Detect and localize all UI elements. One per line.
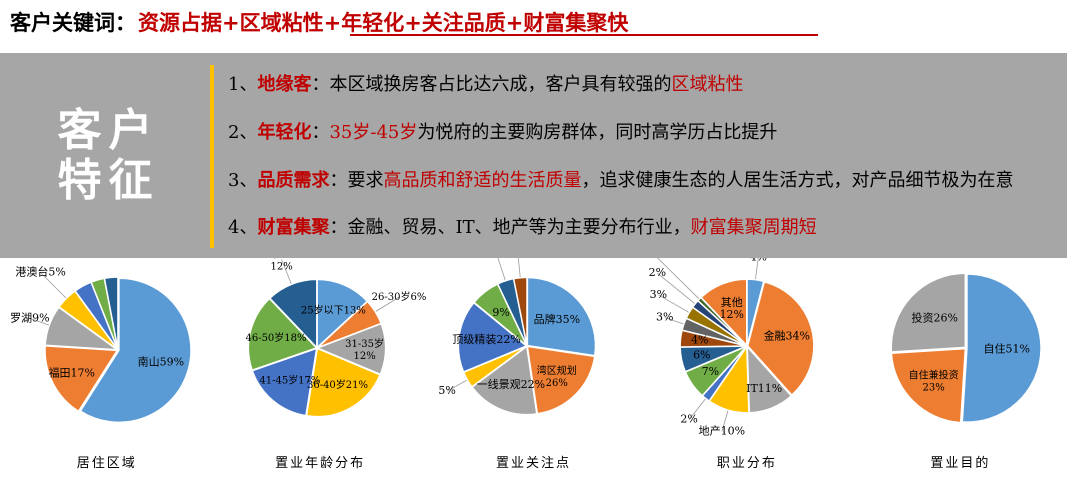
pie-slice-label: 港澳台5% [15, 265, 65, 279]
pie-canvas: 25岁以下13%26-30岁6%31-35岁12%36-40岁21%41-45岁… [213, 258, 426, 443]
pie-slice-label: 地产10% [699, 424, 745, 438]
pie-slice-label: 南山59% [138, 356, 184, 369]
bullet-key: 财富集聚 [257, 217, 329, 238]
bullet-text-highlight: 区域粘性 [671, 74, 743, 95]
pie-slice-label: IT11% [746, 382, 782, 395]
pie-slice-label: 6% [693, 349, 710, 362]
pie-slice-label: 3% [650, 288, 667, 301]
bullet-colon: ： [329, 170, 347, 191]
pie-canvas: 4%金融34%IT11%地产10%2%7%6%4%3%3%2%1%其他12% [640, 258, 853, 443]
pie-chart-svg: 4%金融34%IT11%地产10%2%7%6%4%3%3%2%1%其他12% [640, 258, 854, 443]
keyword-underline [350, 34, 818, 36]
chart-caption: 置业关注点 [427, 452, 640, 471]
pie-slice-label: 46-50岁18% [246, 331, 307, 344]
pie-slice-label: 25岁以下13% [301, 303, 366, 316]
bullet-key: 地缘客 [257, 74, 311, 95]
chart-occupation: 4%金融34%IT11%地产10%2%7%6%4%3%3%2%1%其他12% 职… [640, 258, 853, 477]
pie-label-leader-line [496, 258, 505, 280]
pie-slice-label: 26-30岁6% [372, 290, 427, 303]
keyword-label: 客户关键词： [10, 7, 136, 37]
pie-canvas: 品牌35%湾区规划26%一线景观22%5%顶级精装22%9%5%4% [427, 258, 640, 443]
keyword-value: 资源占据+区域粘性+年轻化+关注品质+财富集聚快 [138, 7, 628, 37]
panel-title-line1: 客户 [51, 106, 160, 155]
bullet-item: 2、年轻化：35岁-45岁为悦府的主要购房群体，同时高学历占比提升 [228, 120, 1057, 146]
pie-slice-label: 41-45岁17% [260, 373, 321, 386]
chart-caption: 置业年龄分布 [213, 452, 426, 471]
pie-chart-svg: 品牌35%湾区规划26%一线景观22%5%顶级精装22%9%5%4% [427, 258, 641, 443]
chart-caption: 职业分布 [640, 452, 853, 471]
bullet-number: 2、 [228, 122, 257, 143]
pie-chart-svg: 自住51%自住兼投资23%投资26% [854, 258, 1067, 443]
keyword-line: 客户关键词： 资源占据+区域粘性+年轻化+关注品质+财富集聚快 [10, 2, 1057, 42]
panel-bullet-list: 1、地缘客：本区域换房客占比达六成，客户具有较强的区域粘性 2、年轻化：35岁-… [214, 53, 1067, 258]
bullet-text-before: 金融、贸易、IT、地产等为主要分布行业， [347, 217, 690, 238]
bullet-number: 1、 [228, 74, 257, 95]
bullet-text-after: 为悦府的主要购房群体，同时高学历占比提升 [417, 122, 777, 143]
pie-slice-label: 50岁以上12% [261, 258, 304, 272]
bullet-number: 4、 [228, 217, 257, 238]
pie-slice-label: 4% [509, 258, 526, 261]
bullet-text-highlight: 财富集聚周期短 [691, 217, 817, 238]
bullet-text-highlight: 高品质和舒适的生活质量 [383, 170, 581, 191]
pie-slice-label: 9% [492, 306, 509, 319]
bullet-item: 1、地缘客：本区域换房客占比达六成，客户具有较强的区域粘性 [228, 72, 1057, 98]
pie-slice-label: 2% [649, 266, 666, 279]
bullet-number: 3、 [228, 170, 257, 191]
pie-label-leader-line [518, 258, 520, 277]
chart-caption: 置业目的 [854, 452, 1067, 471]
pie-slice-label: 4% [750, 258, 767, 264]
pie-slice-label: 4% [691, 334, 708, 347]
bullet-key: 年轻化 [257, 122, 311, 143]
bullet-colon: ： [311, 122, 329, 143]
pie-slice-label: 7% [702, 365, 719, 378]
bullet-text-before: 要求 [347, 170, 383, 191]
customer-characteristics-panel: 客户 特征 1、地缘客：本区域换房客占比达六成，客户具有较强的区域粘性 2、年轻… [0, 53, 1067, 258]
bullet-text-after: ，追求健康生态的人居生活方式，对产品细节极为在意 [581, 170, 1013, 191]
pie-canvas: 南山59%福田17%罗湖9%港澳台5% [0, 258, 213, 443]
bullet-colon: ： [311, 74, 329, 95]
pie-chart-row: 南山59%福田17%罗湖9%港澳台5% 居住区域 25岁以下13%26-30岁6… [0, 258, 1067, 477]
pie-slice-label: 自住51% [983, 341, 1029, 355]
pie-slice-label: 罗湖9% [10, 311, 49, 324]
pie-chart-svg: 南山59%福田17%罗湖9%港澳台5% [0, 258, 214, 443]
chart-caption: 居住区域 [0, 452, 213, 471]
chart-residential-area: 南山59%福田17%罗湖9%港澳台5% 居住区域 [0, 258, 213, 477]
chart-purchase-focus: 品牌35%湾区规划26%一线景观22%5%顶级精装22%9%5%4% 置业关注点 [427, 258, 640, 477]
pie-slice-label: 福田17% [49, 366, 95, 380]
bullet-colon: ： [329, 217, 347, 238]
pie-slice-label: 其他12% [720, 296, 744, 321]
pie-slice-label: 3% [656, 311, 673, 324]
pie-slice-label: 2% [681, 413, 698, 426]
pie-slice-label: 品牌35% [533, 312, 579, 326]
bullet-text-highlight: 35岁-45岁 [329, 122, 417, 143]
bullet-key: 品质需求 [257, 170, 329, 191]
chart-age-distribution: 25岁以下13%26-30岁6%31-35岁12%36-40岁21%41-45岁… [213, 258, 426, 477]
bullet-item: 3、品质需求：要求高品质和舒适的生活质量，追求健康生态的人居生活方式，对产品细节… [228, 168, 1057, 194]
slide-root: 客户关键词： 资源占据+区域粘性+年轻化+关注品质+财富集聚快 客户 特征 1、… [0, 0, 1067, 477]
bullet-item: 4、财富集聚：金融、贸易、IT、地产等为主要分布行业，财富集聚周期短 [228, 215, 1057, 241]
panel-title-line2: 特征 [51, 156, 160, 205]
panel-title: 客户 特征 [0, 53, 210, 258]
bullet-text-before: 本区域换房客占比达六成，客户具有较强的 [329, 74, 671, 95]
pie-canvas: 自住51%自住兼投资23%投资26% [854, 258, 1067, 443]
pie-chart-svg: 25岁以下13%26-30岁6%31-35岁12%36-40岁21%41-45岁… [213, 258, 427, 443]
chart-purchase-purpose: 自住51%自住兼投资23%投资26% 置业目的 [854, 258, 1067, 477]
pie-slice-label: 顶级精装22% [452, 333, 520, 346]
pie-slice-label: 投资26% [911, 311, 957, 325]
pie-slice-label: 一线景观22% [476, 377, 544, 391]
pie-slice-label: 金融34% [764, 328, 810, 342]
pie-slice-label: 5% [438, 384, 455, 397]
